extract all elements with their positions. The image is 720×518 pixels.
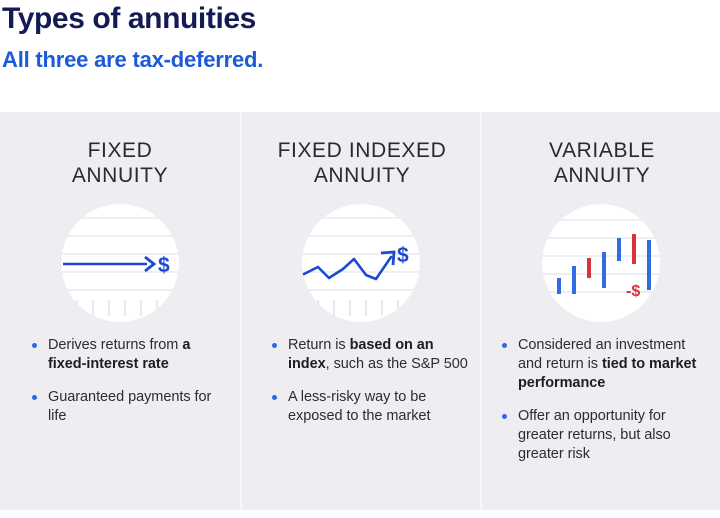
list-item: Guaranteed payments for life: [32, 388, 226, 426]
column-title-variable-annuity: VARIABLE ANNUITY: [482, 138, 720, 188]
bullet-list-variable-annuity: Considered an investment and return is t…: [482, 336, 720, 464]
page-title: Types of annuities: [2, 2, 256, 36]
list-item: Offer an opportunity for greater returns…: [502, 407, 712, 464]
bullet-list-fixed-annuity: Derives returns from a fixed-interest ra…: [0, 336, 240, 426]
list-item: Considered an investment and return is t…: [502, 336, 712, 393]
page-header: Types of annuities All three are tax-def…: [0, 0, 720, 112]
dollar-sign-positive: $: [158, 254, 170, 277]
column-title-line-2: ANNUITY: [242, 163, 482, 188]
column-title-line-1: FIXED INDEXED: [242, 138, 482, 163]
dollar-sign-negative: -$: [626, 283, 640, 300]
list-item: Derives returns from a fixed-interest ra…: [32, 336, 226, 374]
bullet-dot-icon: [502, 343, 507, 348]
bullet-dot-icon: [272, 395, 277, 400]
candlestick-bars-negative-dollar-icon: -$: [542, 204, 660, 322]
zigzag-rising-arrow-dollar-icon: $: [302, 204, 420, 322]
column-title-line-2: ANNUITY: [0, 163, 240, 188]
bullet-list-fixed-indexed-annuity: Return is based on an index, such as the…: [242, 336, 482, 426]
annuity-types-panel: FIXED ANNUITY: [0, 112, 720, 510]
bullet-dot-icon: [32, 395, 37, 400]
column-title-line-1: FIXED: [0, 138, 240, 163]
bullet-text: A less-risky way to be exposed to the ma…: [288, 389, 430, 424]
dollar-sign-positive: $: [397, 244, 409, 267]
list-item: Return is based on an index, such as the…: [272, 336, 468, 374]
column-title-fixed-indexed-annuity: FIXED INDEXED ANNUITY: [242, 138, 482, 188]
list-item: A less-risky way to be exposed to the ma…: [272, 388, 468, 426]
bullet-text: Return is based on an index, such as the…: [288, 337, 468, 372]
bullet-dot-icon: [272, 343, 277, 348]
bullet-text: Derives returns from a fixed-interest ra…: [48, 337, 190, 372]
bullet-dot-icon: [502, 414, 507, 419]
bullet-text: Considered an investment and return is t…: [518, 337, 696, 391]
bullet-text: Guaranteed payments for life: [48, 389, 211, 424]
column-fixed-indexed-annuity: FIXED INDEXED ANNUITY: [240, 112, 480, 510]
column-fixed-annuity: FIXED ANNUITY: [0, 112, 240, 510]
column-title-fixed-annuity: FIXED ANNUITY: [0, 138, 240, 188]
flat-line-arrow-dollar-icon: $: [61, 204, 179, 322]
column-variable-annuity: VARIABLE ANNUITY: [480, 112, 720, 510]
column-title-line-1: VARIABLE: [482, 138, 720, 163]
bullet-text: Offer an opportunity for greater returns…: [518, 408, 671, 462]
page-subtitle: All three are tax-deferred.: [2, 46, 263, 74]
bullet-dot-icon: [32, 343, 37, 348]
column-title-line-2: ANNUITY: [482, 163, 720, 188]
